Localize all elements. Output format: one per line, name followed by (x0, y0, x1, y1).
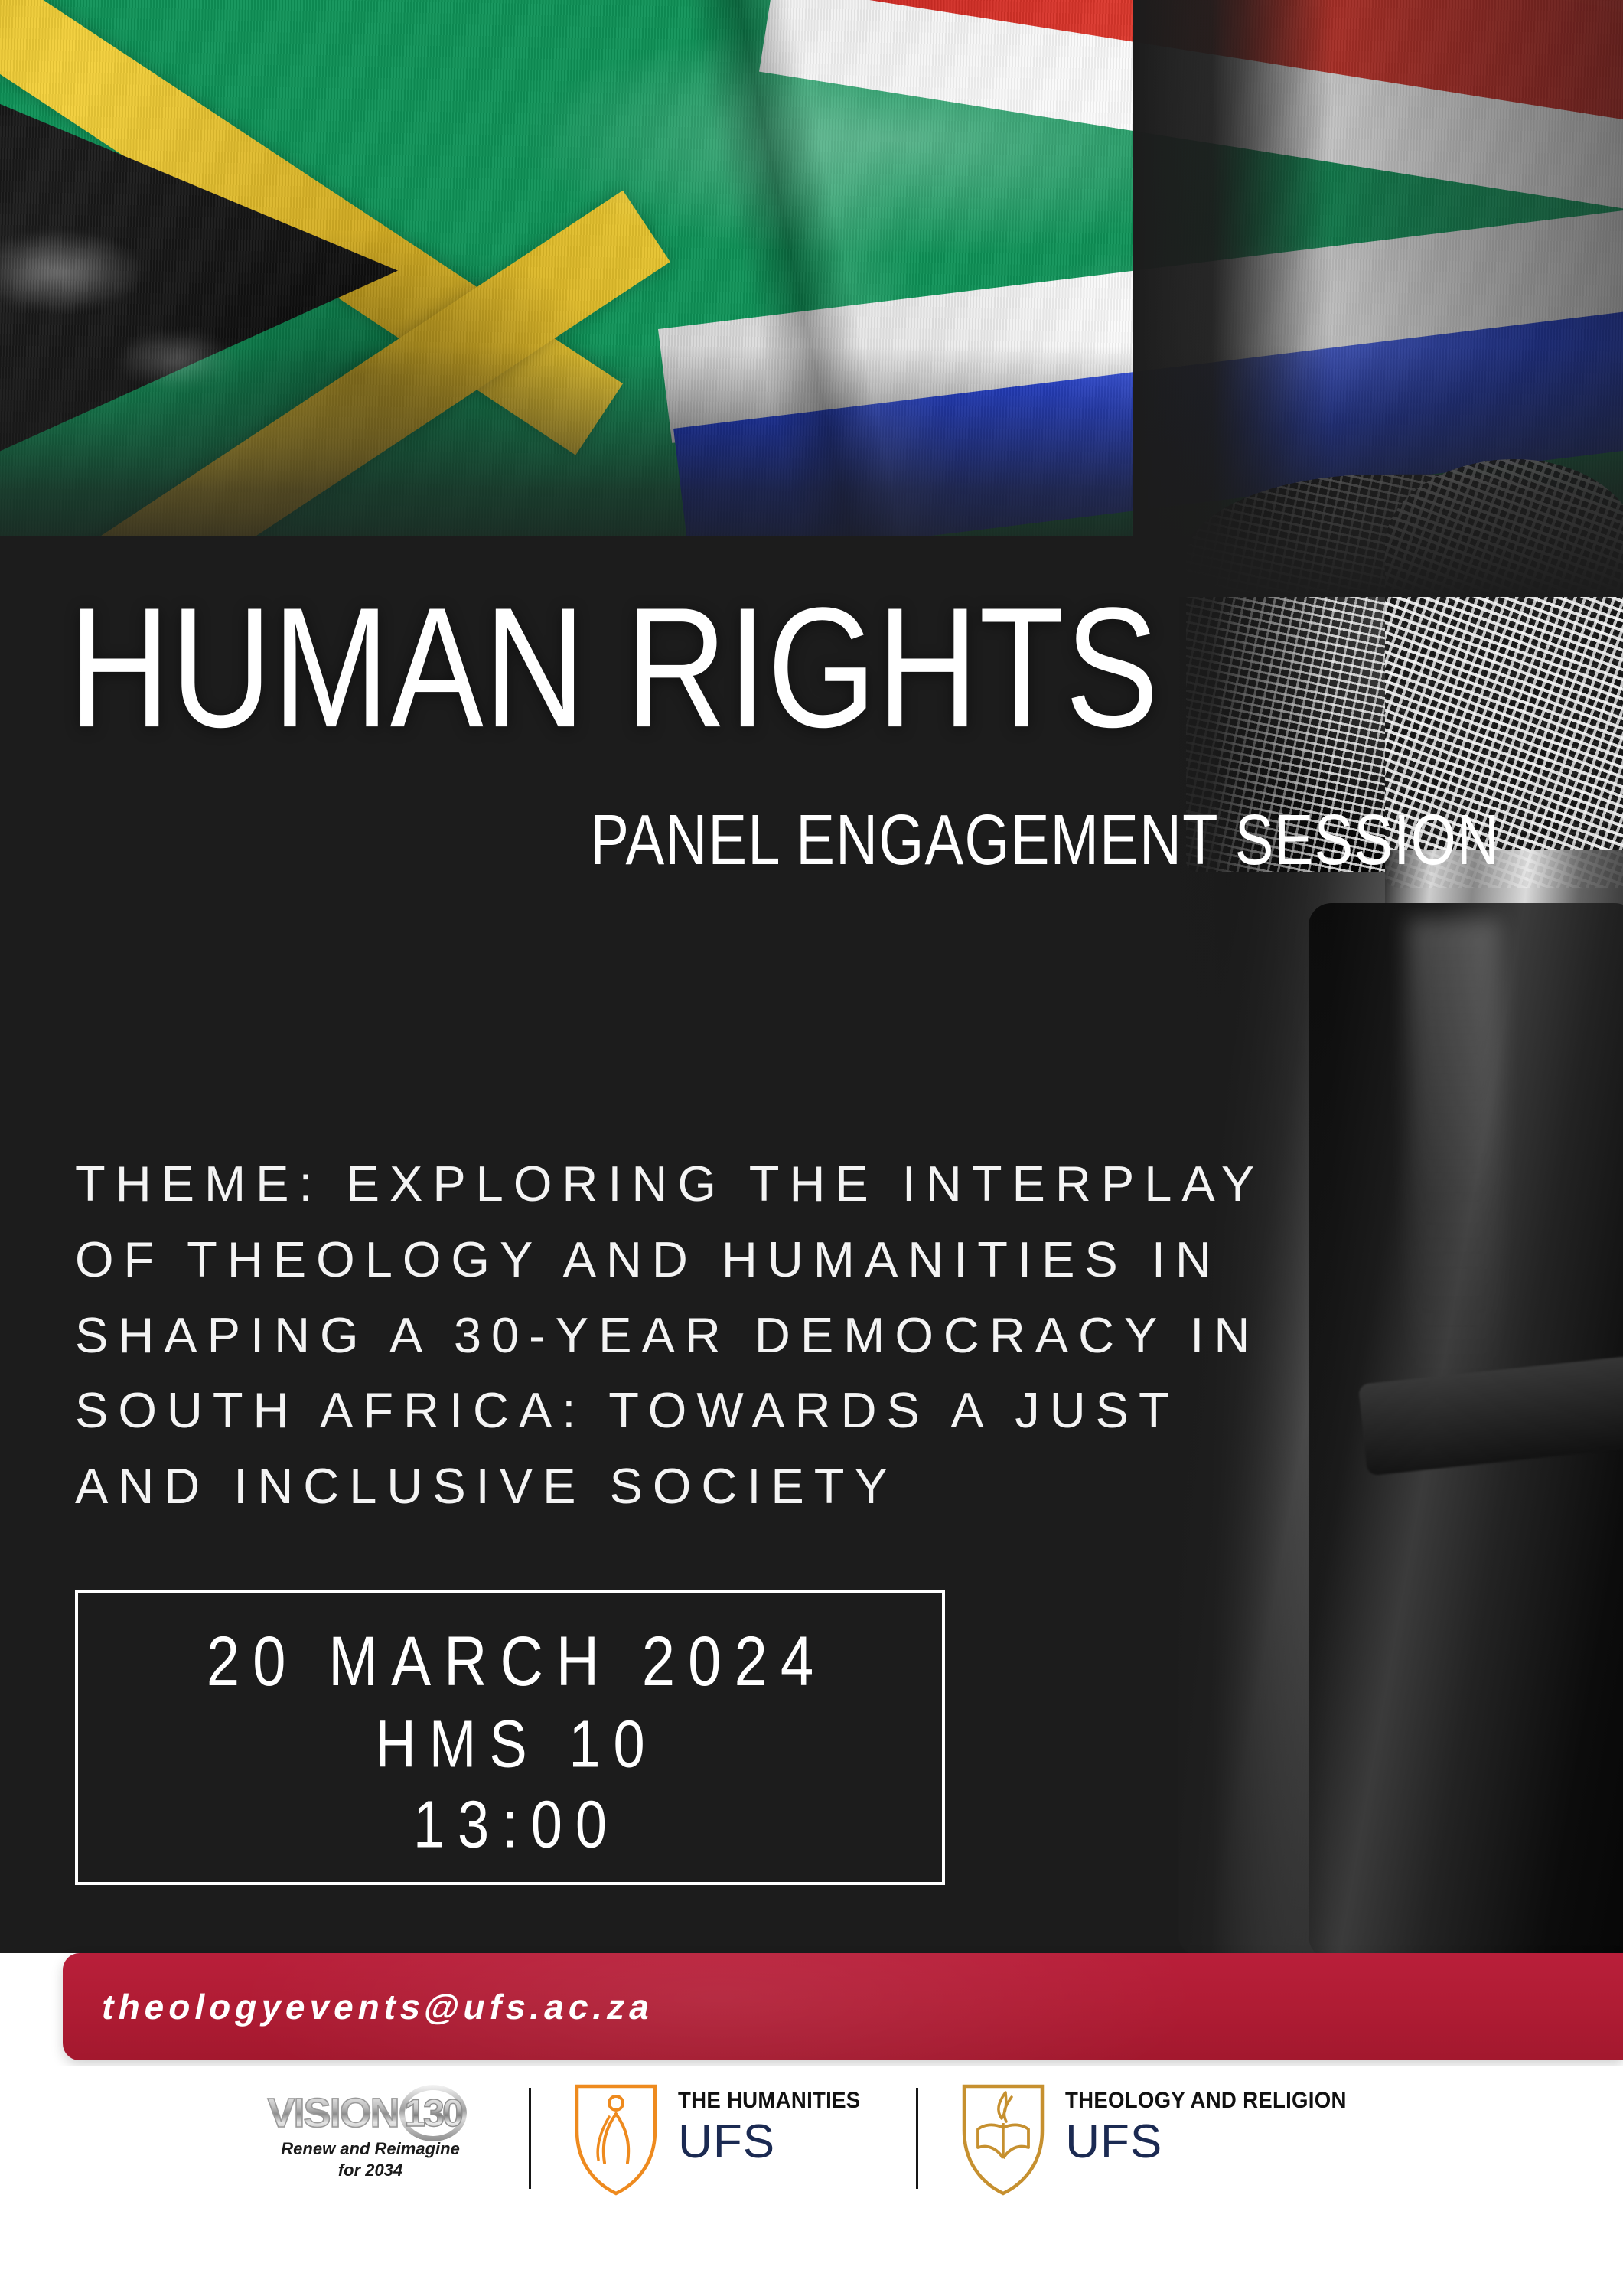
contact-email[interactable]: theologyevents@ufs.ac.za (99, 1986, 658, 2027)
event-details-box: 20 MARCH 2024 HMS 10 13:00 (75, 1590, 945, 1885)
ufs-wordmark: UFS (678, 2118, 876, 2166)
vision-tagline: Renew and Reimagine for 2034 (281, 2138, 460, 2180)
theme-text: THEME: EXPLORING THE INTERPLAY OF THEOLO… (75, 1146, 1552, 1525)
page-subtitle: PANEL ENGAGEMENT SESSION (69, 805, 1500, 876)
logo-divider (916, 2088, 918, 2189)
page-title: HUMAN RIGHTS (69, 582, 1569, 752)
hero-panel: HUMAN RIGHTS PANEL ENGAGEMENT SESSION TH… (0, 0, 1623, 1953)
event-date: 20 MARCH 2024 (194, 1620, 827, 1702)
event-venue: HMS 10 (362, 1705, 657, 1782)
theme-line: THEME: EXPLORING THE INTERPLAY (75, 1146, 1552, 1222)
logo-divider (529, 2088, 531, 2189)
footer-logo-row: VISION 130 Renew and Reimagine for 2034 (0, 2066, 1623, 2296)
vision-tagline-line2: for 2034 (281, 2160, 460, 2181)
vision-wordmark: VISION (268, 2089, 399, 2137)
faculty-name: THE HUMANITIES (678, 2088, 860, 2114)
vision-130-badge: 130 (393, 2083, 474, 2143)
contact-band: theologyevents@ufs.ac.za (63, 1953, 1623, 2060)
event-time: 13:00 (400, 1786, 620, 1862)
vision-number: 130 (404, 2091, 461, 2135)
poster-canvas: HUMAN RIGHTS PANEL ENGAGEMENT SESSION TH… (0, 0, 1623, 2296)
ufs-theology-logo: THEOLOGY AND RELIGION UFS (958, 2083, 1371, 2197)
ufs-shield-book-flame-icon (958, 2083, 1048, 2197)
ufs-shield-flame-figure-icon (571, 2083, 661, 2197)
ufs-wordmark: UFS (1065, 2118, 1371, 2166)
theme-line: SHAPING A 30-YEAR DEMOCRACY IN (75, 1298, 1552, 1374)
theme-line: AND INCLUSIVE SOCIETY (75, 1449, 1552, 1525)
ufs-humanities-logo: THE HUMANITIES UFS (571, 2083, 876, 2197)
theme-line: OF THEOLOGY AND HUMANITIES IN (75, 1222, 1552, 1298)
theme-line: SOUTH AFRICA: TOWARDS A JUST (75, 1373, 1552, 1449)
flag-right-fade (1133, 0, 1623, 597)
vision130-logo: VISION 130 Renew and Reimagine for 2034 (252, 2083, 489, 2198)
faculty-name: THEOLOGY AND RELIGION (1065, 2088, 1347, 2114)
